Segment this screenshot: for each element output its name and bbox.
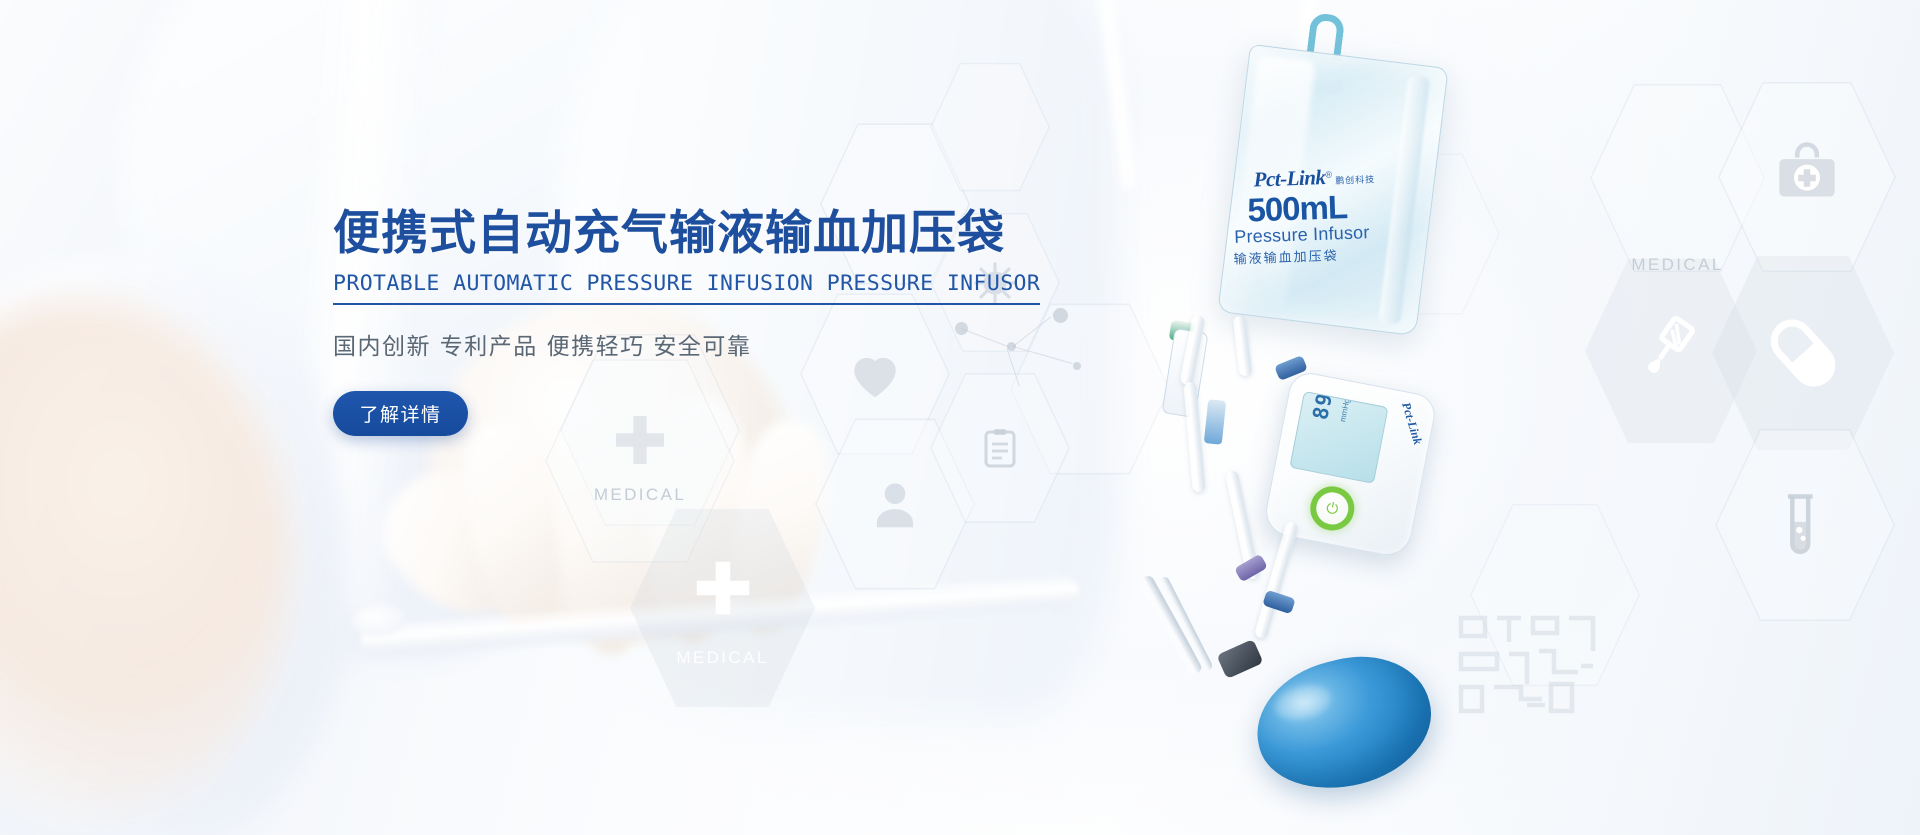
lcd-unit: mmHg: [1338, 398, 1351, 423]
iv-pressure-bag: Pct-Link®鹏创科技 500mL Pressure Infusor 输液输…: [1217, 44, 1448, 336]
bag-name-cn: 输液输血加压袋: [1233, 245, 1339, 268]
roller-clamp: [1204, 399, 1227, 445]
feature-tagline: 国内创新 专利产品 便携轻巧 安全可靠: [333, 327, 1033, 361]
bulb-highlight: [1271, 679, 1336, 726]
device-brand: Pct-Link: [1398, 401, 1425, 447]
product-photo: Pct-Link®鹏创科技 500mL Pressure Infusor 输液输…: [1060, 0, 1920, 835]
hero-copy: 便携式自动充气输液输血加压袋 PROTABLE AUTOMATIC PRESSU…: [333, 208, 1033, 436]
bag-brand-mark: ®: [1325, 169, 1332, 179]
bag-brand-cn: 鹏创科技: [1335, 174, 1375, 185]
inflation-bulb-pump: [1243, 641, 1444, 806]
power-icon: ⏻: [1306, 483, 1358, 535]
iv-tube: [1254, 521, 1300, 640]
pump-release-valve: [1216, 639, 1263, 679]
hero-banner: MEDICAL MEDICAL MEDICAL: [0, 0, 1920, 835]
bag-seam: [1378, 74, 1430, 325]
lcd-value: 8962: [1308, 391, 1342, 422]
bag-name-en: Pressure Infusor: [1234, 222, 1370, 248]
iv-tube: [1232, 315, 1252, 376]
learn-more-button[interactable]: 了解详情: [333, 391, 468, 436]
page-title: 便携式自动充气输液输血加压袋: [333, 208, 1033, 260]
page-subtitle: PROTABLE AUTOMATIC PRESSURE INFUSION PRE…: [333, 271, 1040, 305]
lcd-display: 8962 mmHg: [1289, 391, 1388, 484]
iv-tube: [1183, 382, 1206, 493]
